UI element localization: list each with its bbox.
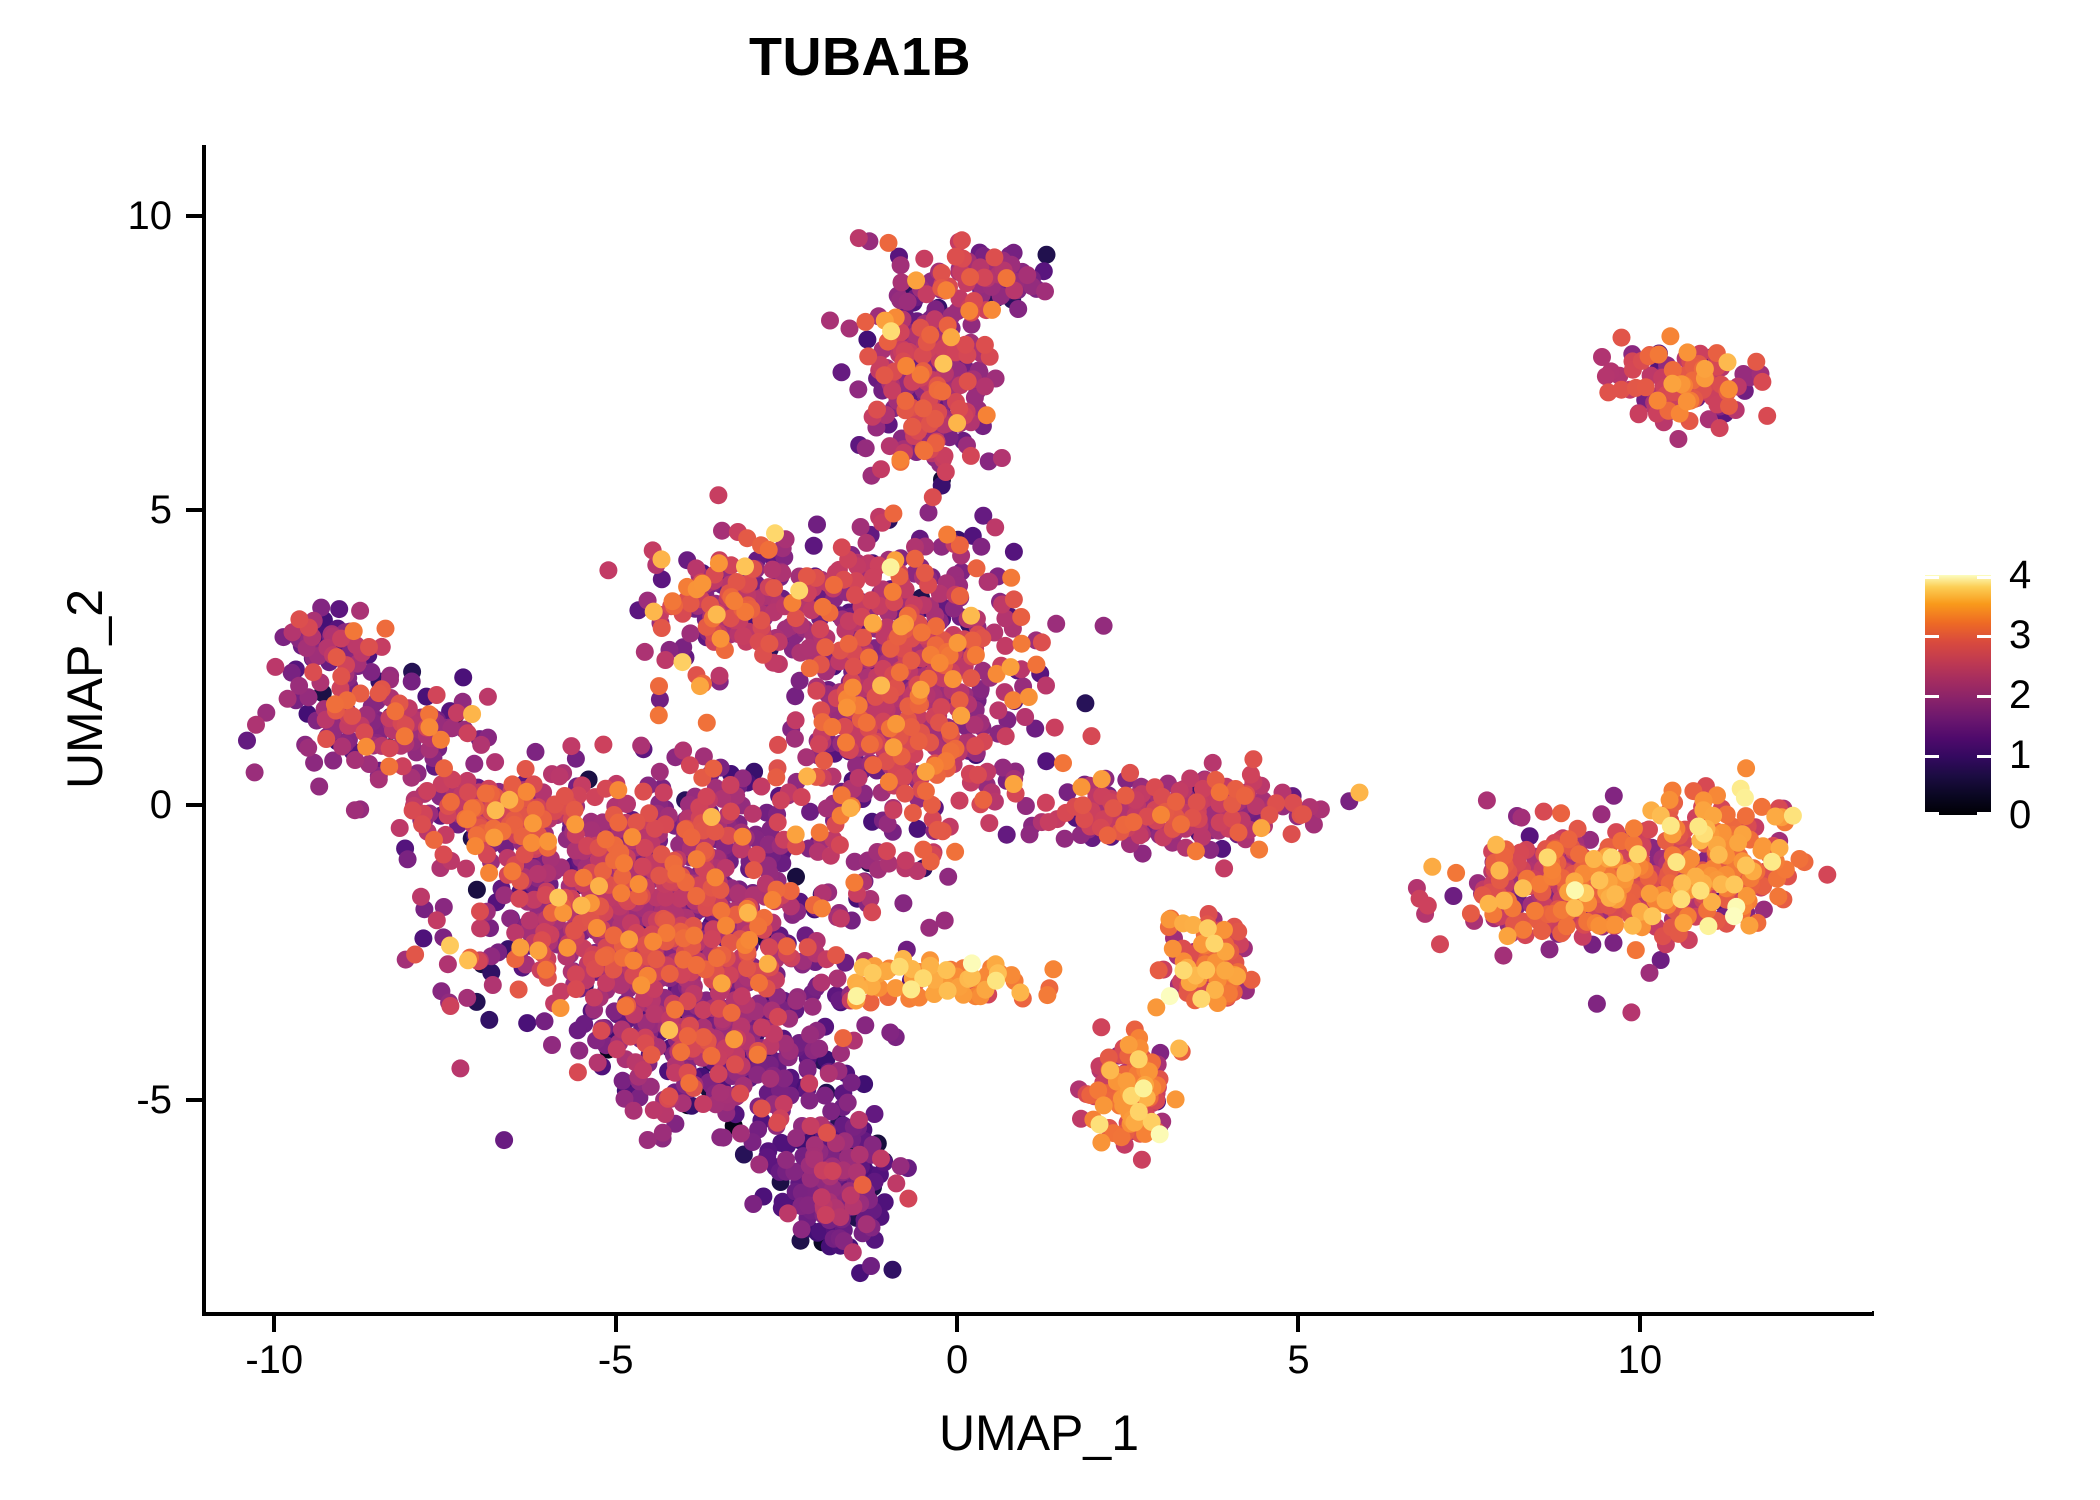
scatter-point (942, 961, 960, 979)
scatter-point (910, 963, 928, 981)
scatter-point (569, 787, 587, 805)
scatter-point (1013, 263, 1031, 281)
scatter-point (1725, 907, 1743, 925)
scatter-point (973, 629, 991, 647)
scatter-point (1664, 825, 1682, 843)
scatter-point (1704, 380, 1722, 398)
scatter-point (708, 850, 726, 868)
scatter-point (1720, 380, 1738, 398)
scatter-point (953, 231, 971, 249)
scatter-point (1027, 656, 1045, 674)
scatter-point (1490, 886, 1508, 904)
scatter-point (718, 1015, 736, 1033)
scatter-point (700, 1073, 718, 1091)
scatter-point (857, 439, 875, 457)
scatter-point (1226, 954, 1244, 972)
scatter-point (935, 330, 953, 348)
scatter-point (805, 1040, 823, 1058)
scatter-point (1209, 994, 1227, 1012)
scatter-point (1519, 861, 1537, 879)
scatter-point (1112, 796, 1130, 814)
scatter-point (896, 325, 914, 343)
scatter-point (603, 972, 621, 990)
scatter-point (685, 1076, 703, 1094)
scatter-point (823, 1149, 841, 1167)
scatter-point (847, 716, 865, 734)
scatter-point (914, 841, 932, 859)
scatter-point (928, 329, 946, 347)
scatter-point (596, 880, 614, 898)
scatter-point (1564, 871, 1582, 889)
scatter-point (819, 1144, 837, 1162)
scatter-point (864, 615, 882, 633)
scatter-point (801, 803, 819, 821)
scatter-point (945, 755, 963, 773)
scatter-point (645, 603, 663, 621)
scatter-point (374, 717, 392, 735)
scatter-point (952, 707, 970, 725)
scatter-point (743, 1047, 761, 1065)
scatter-point (1727, 898, 1745, 916)
scatter-point (1192, 990, 1210, 1008)
scatter-point (639, 948, 657, 966)
scatter-point (1614, 873, 1632, 891)
scatter-point (772, 846, 790, 864)
scatter-point (1497, 840, 1515, 858)
scatter-point (1667, 820, 1685, 838)
scatter-point (668, 899, 686, 917)
scatter-point (1192, 810, 1210, 828)
scatter-point (837, 704, 855, 722)
scatter-point (1730, 847, 1748, 865)
scatter-point (471, 951, 489, 969)
scatter-point (1687, 908, 1705, 926)
scatter-point (928, 433, 946, 451)
scatter-point (579, 898, 597, 916)
scatter-point (1205, 911, 1223, 929)
scatter-point (518, 783, 536, 801)
scatter-point (384, 721, 402, 739)
scatter-point (1572, 872, 1590, 890)
scatter-point (682, 978, 700, 996)
scatter-point (675, 929, 693, 947)
scatter-point (635, 900, 653, 918)
scatter-point (1191, 794, 1209, 812)
scatter-point (848, 890, 866, 908)
scatter-point (685, 1027, 703, 1045)
scatter-point (643, 854, 661, 872)
scatter-point (565, 975, 583, 993)
scatter-point (709, 816, 727, 834)
scatter-point (890, 564, 908, 582)
scatter-point (1694, 801, 1712, 819)
scatter-point (963, 954, 981, 972)
scatter-point (803, 984, 821, 1002)
scatter-point (305, 754, 323, 772)
scatter-point (848, 714, 866, 732)
scatter-point (1206, 981, 1224, 999)
scatter-point (1126, 1114, 1144, 1132)
scatter-point (1026, 720, 1044, 738)
scatter-point (1193, 935, 1211, 953)
scatter-point (946, 349, 964, 367)
scatter-point (1002, 658, 1020, 676)
scatter-point (1094, 1074, 1112, 1092)
scatter-point (880, 551, 898, 569)
scatter-point (580, 962, 598, 980)
scatter-point (881, 366, 899, 384)
scatter-point (864, 408, 882, 426)
scatter-point (459, 788, 477, 806)
scatter-point (864, 614, 882, 632)
scatter-point (606, 836, 624, 854)
scatter-point (704, 904, 722, 922)
scatter-point (870, 361, 888, 379)
scatter-point (336, 623, 354, 641)
scatter-point (971, 363, 989, 381)
scatter-point (521, 779, 539, 797)
scatter-point (726, 611, 744, 629)
scatter-point (318, 639, 336, 657)
scatter-point (824, 1157, 842, 1175)
scatter-point (808, 1022, 826, 1040)
scatter-point (845, 643, 863, 661)
scatter-point (813, 831, 831, 849)
scatter-point (919, 576, 937, 594)
scatter-point (917, 685, 935, 703)
scatter-point (804, 1151, 822, 1169)
scatter-point (448, 704, 466, 722)
scatter-point (1178, 959, 1196, 977)
scatter-point (1605, 934, 1623, 952)
scatter-point (629, 976, 647, 994)
scatter-point (473, 818, 491, 836)
scatter-point (1081, 1086, 1099, 1104)
scatter-point (1220, 820, 1238, 838)
scatter-point (457, 860, 475, 878)
scatter-point (432, 807, 450, 825)
scatter-point (628, 943, 646, 961)
scatter-point (907, 986, 925, 1004)
scatter-point (1621, 381, 1639, 399)
scatter-point (696, 1039, 714, 1057)
scatter-point (692, 1067, 710, 1085)
scatter-point (1121, 1065, 1139, 1083)
scatter-point (935, 975, 953, 993)
scatter-point (929, 687, 947, 705)
scatter-point (1113, 1128, 1131, 1146)
scatter-point (641, 1046, 659, 1064)
scatter-point (1009, 300, 1027, 318)
scatter-point (900, 361, 918, 379)
scatter-point (1590, 885, 1608, 903)
scatter-point (516, 860, 534, 878)
scatter-point (887, 309, 905, 327)
scatter-point (504, 810, 522, 828)
scatter-point (695, 842, 713, 860)
scatter-point (1557, 863, 1575, 881)
scatter-point (1672, 890, 1690, 908)
scatter-point (1668, 920, 1686, 938)
scatter-point (332, 667, 350, 685)
scatter-point (756, 1059, 774, 1077)
scatter-point (892, 627, 910, 645)
scatter-point (754, 646, 772, 664)
scatter-point (947, 740, 965, 758)
scatter-point (1680, 388, 1698, 406)
scatter-point (1220, 985, 1238, 1003)
scatter-point (373, 680, 391, 698)
scatter-point (714, 1010, 732, 1028)
scatter-point (1744, 862, 1762, 880)
scatter-point (653, 903, 671, 921)
scatter-point (974, 791, 992, 809)
scatter-point (833, 363, 851, 381)
scatter-point (696, 922, 714, 940)
scatter-point (572, 850, 590, 868)
scatter-point (287, 691, 305, 709)
scatter-point (1001, 277, 1019, 295)
scatter-point (858, 1215, 876, 1233)
scatter-point (1578, 913, 1596, 931)
scatter-point (834, 610, 852, 628)
scatter-point (899, 710, 917, 728)
scatter-point (1558, 917, 1576, 935)
scatter-point (750, 1009, 768, 1027)
scatter-point (839, 1148, 857, 1166)
scatter-point (1138, 1090, 1156, 1108)
scatter-point (1568, 884, 1586, 902)
scatter-point (848, 554, 866, 572)
scatter-point (887, 715, 905, 733)
scatter-point (671, 917, 689, 935)
scatter-point (462, 810, 480, 828)
scatter-point (1623, 861, 1641, 879)
scatter-point (557, 894, 575, 912)
scatter-point (566, 815, 584, 833)
scatter-point (689, 883, 707, 901)
scatter-point (976, 336, 994, 354)
scatter-point (1167, 812, 1185, 830)
scatter-point (958, 346, 976, 364)
scatter-point (854, 629, 872, 647)
scatter-point (986, 518, 1004, 536)
scatter-point (1651, 894, 1669, 912)
scatter-point (1663, 918, 1681, 936)
scatter-point (770, 1162, 788, 1180)
scatter-point (848, 695, 866, 713)
scatter-point (1117, 1123, 1135, 1141)
scatter-point (950, 978, 968, 996)
scatter-point (573, 923, 591, 941)
scatter-point (673, 1059, 691, 1077)
scatter-point (370, 684, 388, 702)
scatter-point (1564, 890, 1582, 908)
scatter-point (890, 717, 908, 735)
scatter-point (717, 906, 735, 924)
scatter-point (380, 738, 398, 756)
scatter-point (1611, 858, 1629, 876)
scatter-point (338, 691, 356, 709)
scatter-point (451, 1059, 469, 1077)
scatter-point (597, 927, 615, 945)
scatter-point (679, 1096, 697, 1114)
scatter-point (707, 595, 725, 613)
scatter-point (714, 928, 732, 946)
scatter-point (815, 1194, 833, 1212)
scatter-point (666, 817, 684, 835)
scatter-point (565, 894, 583, 912)
scatter-point (704, 1007, 722, 1025)
page-title: TUBA1B (0, 26, 1720, 88)
scatter-point (893, 642, 911, 660)
scatter-point (1513, 860, 1531, 878)
scatter-point (1574, 880, 1592, 898)
scatter-point (636, 945, 654, 963)
scatter-point (312, 626, 330, 644)
scatter-point (962, 413, 980, 431)
scatter-point (1717, 891, 1735, 909)
scatter-point (1602, 362, 1620, 380)
scatter-point (747, 826, 765, 844)
scatter-point (832, 910, 850, 928)
scatter-point (1194, 780, 1212, 798)
scatter-point (770, 933, 788, 951)
scatter-point (710, 874, 728, 892)
scatter-point (897, 757, 915, 775)
scatter-point (582, 894, 600, 912)
scatter-point (702, 765, 720, 783)
scatter-point (1486, 861, 1504, 879)
scatter-point (603, 821, 621, 839)
scatter-point (1657, 404, 1675, 422)
scatter-point (672, 923, 690, 941)
scatter-point (1141, 1084, 1159, 1102)
scatter-point (1115, 1039, 1133, 1057)
scatter-point (1684, 372, 1702, 390)
scatter-point (886, 313, 904, 331)
scatter-point (851, 1146, 869, 1164)
scatter-point (900, 385, 918, 403)
scatter-point (397, 951, 415, 969)
scatter-point (1625, 874, 1643, 892)
scatter-point (611, 898, 629, 916)
scatter-point (935, 656, 953, 674)
scatter-point (1677, 856, 1695, 874)
scatter-point (1597, 845, 1615, 863)
colorbar-tick-label: 0 (2009, 795, 2031, 835)
scatter-point (908, 412, 926, 430)
scatter-point (1492, 855, 1510, 873)
scatter-point (889, 365, 907, 383)
scatter-point (688, 850, 706, 868)
scatter-point (360, 638, 378, 656)
scatter-point (835, 1172, 853, 1190)
scatter-point (836, 622, 854, 640)
scatter-point (1447, 864, 1465, 882)
scatter-point (1733, 852, 1751, 870)
scatter-point (825, 1198, 843, 1216)
scatter-point (1549, 918, 1567, 936)
scatter-point (930, 263, 948, 281)
scatter-point (897, 628, 915, 646)
scatter-point (790, 1034, 808, 1052)
scatter-point (989, 725, 1007, 743)
scatter-point (1690, 894, 1708, 912)
scatter-point (625, 952, 643, 970)
scatter-point (647, 996, 665, 1014)
scatter-point (870, 409, 888, 427)
scatter-point (1631, 913, 1649, 931)
scatter-point (598, 923, 616, 941)
scatter-point (516, 918, 534, 936)
scatter-point (929, 381, 947, 399)
scatter-point (1708, 358, 1726, 376)
scatter-point (1485, 854, 1503, 872)
scatter-point (932, 333, 950, 351)
scatter-point (690, 798, 708, 816)
scatter-point (799, 938, 817, 956)
scatter-point (942, 328, 960, 346)
scatter-point (1549, 925, 1567, 943)
scatter-point (741, 924, 759, 942)
scatter-point (1581, 882, 1599, 900)
scatter-point (549, 936, 567, 954)
scatter-point (660, 1087, 678, 1105)
scatter-point (634, 863, 652, 881)
scatter-point (757, 1019, 775, 1037)
scatter-point (554, 904, 572, 922)
scatter-point (771, 1163, 789, 1181)
scatter-point (636, 961, 654, 979)
scatter-point (618, 996, 636, 1014)
scatter-point (1671, 883, 1689, 901)
scatter-point (923, 796, 941, 814)
scatter-point (650, 795, 668, 813)
scatter-point (1779, 867, 1797, 885)
scatter-point (368, 711, 386, 729)
scatter-point (1408, 879, 1426, 897)
scatter-point (773, 1102, 791, 1120)
scatter-point (662, 597, 680, 615)
scatter-point (815, 1119, 833, 1137)
scatter-point (666, 944, 684, 962)
scatter-point (1667, 853, 1685, 871)
scatter-point (1570, 845, 1588, 863)
scatter-point (921, 311, 939, 329)
scatter-point (824, 768, 842, 786)
scatter-point (456, 799, 474, 817)
scatter-point (808, 516, 826, 534)
scatter-point (836, 1132, 854, 1150)
scatter-point (482, 802, 500, 820)
scatter-point (887, 1028, 905, 1046)
scatter-point (698, 628, 716, 646)
scatter-point (830, 1062, 848, 1080)
scatter-point (238, 732, 256, 750)
scatter-point (1654, 888, 1672, 906)
scatter-point (1735, 853, 1753, 871)
scatter-point (1015, 267, 1033, 285)
scatter-point (1099, 786, 1117, 804)
scatter-point (1217, 971, 1235, 989)
scatter-point (1183, 973, 1201, 991)
scatter-point (1048, 810, 1066, 828)
scatter-point (962, 447, 980, 465)
scatter-point (825, 657, 843, 675)
scatter-point (760, 938, 778, 956)
scatter-point (670, 1027, 688, 1045)
